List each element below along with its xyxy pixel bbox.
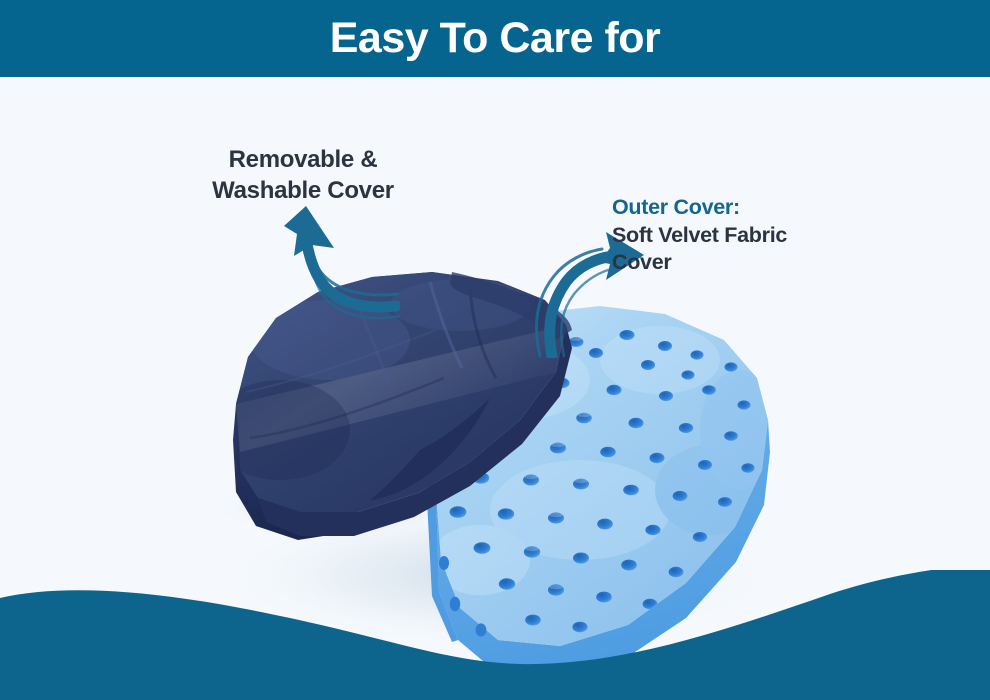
annotation-outer-cover: Outer Cover: Soft Velvet Fabric Cover: [612, 194, 862, 277]
annotation-right-line1: Soft Velvet Fabric: [612, 222, 862, 250]
bottom-wave-decoration: [0, 570, 990, 700]
annotation-removable-washable-cover: Removable & Washable Cover: [178, 145, 428, 206]
annotation-right-line2: Cover: [612, 249, 862, 277]
curved-arrow-up-left-icon: [250, 198, 400, 348]
promo-graphic: Easy To Care for: [0, 0, 990, 700]
page-title: Easy To Care for: [330, 17, 661, 60]
annotation-left-line1: Removable &: [178, 145, 428, 176]
annotation-right-heading: Outer Cover:: [612, 194, 862, 222]
annotation-left-line2: Washable Cover: [178, 176, 428, 207]
header-banner: Easy To Care for: [0, 0, 990, 77]
product-photo: [0, 0, 990, 700]
